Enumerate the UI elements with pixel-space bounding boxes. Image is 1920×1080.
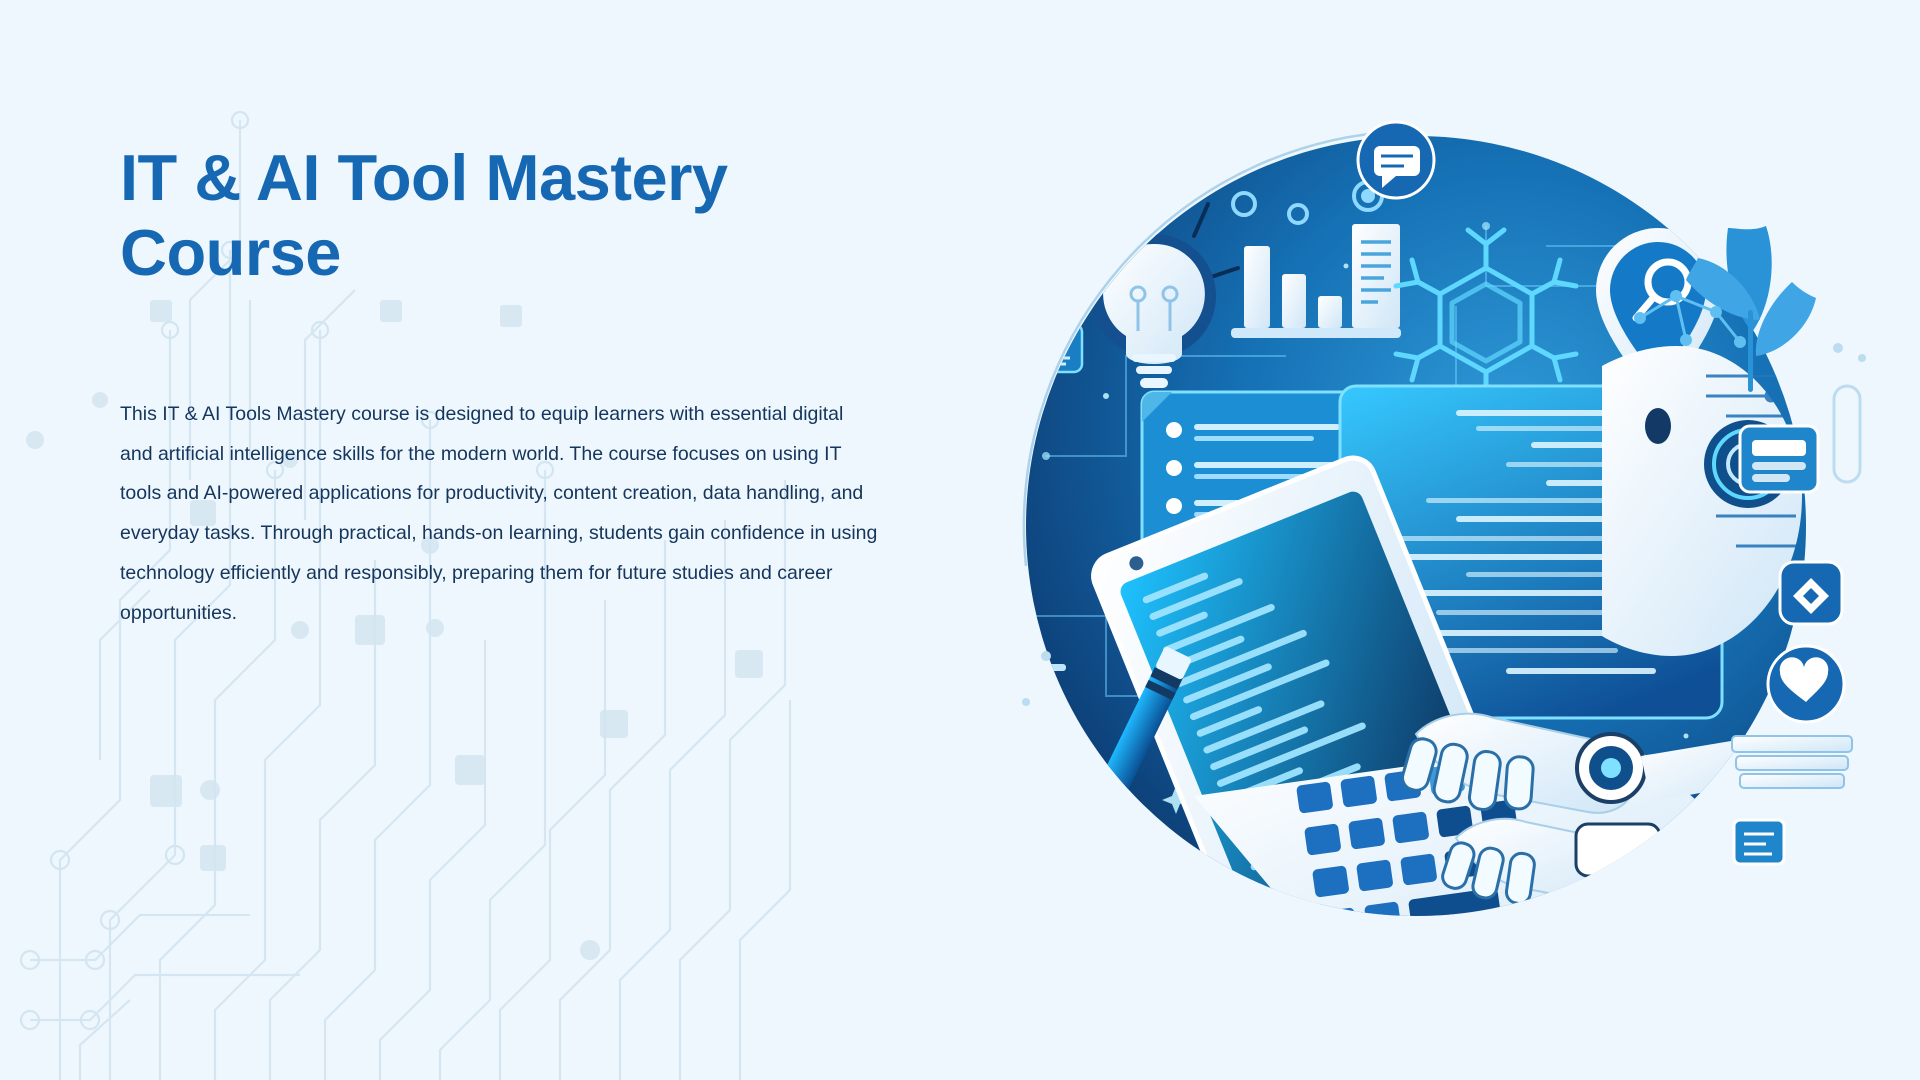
- note-badge-icon: [1734, 820, 1784, 864]
- page-title: IT & AI Tool Mastery Course: [120, 140, 820, 291]
- document-icon: [1352, 224, 1400, 328]
- heart-badge-icon: [1768, 646, 1844, 722]
- chat-bubble-badge-icon: [1358, 122, 1434, 198]
- hero-text-column: IT & AI Tool Mastery Course This IT & AI…: [120, 140, 880, 633]
- rounded-pill-icon: [1834, 386, 1860, 482]
- card-stack-badge-icon: [1740, 426, 1818, 492]
- illustration-svg: [986, 96, 1874, 984]
- hero-banner: IT & AI Tool Mastery Course This IT & AI…: [0, 0, 1920, 1080]
- diamond-badge-icon: [1780, 562, 1842, 624]
- ai-technology-illustration: [986, 96, 1874, 984]
- book-icon: [1732, 736, 1852, 788]
- course-description: This IT & AI Tools Mastery course is des…: [120, 395, 880, 634]
